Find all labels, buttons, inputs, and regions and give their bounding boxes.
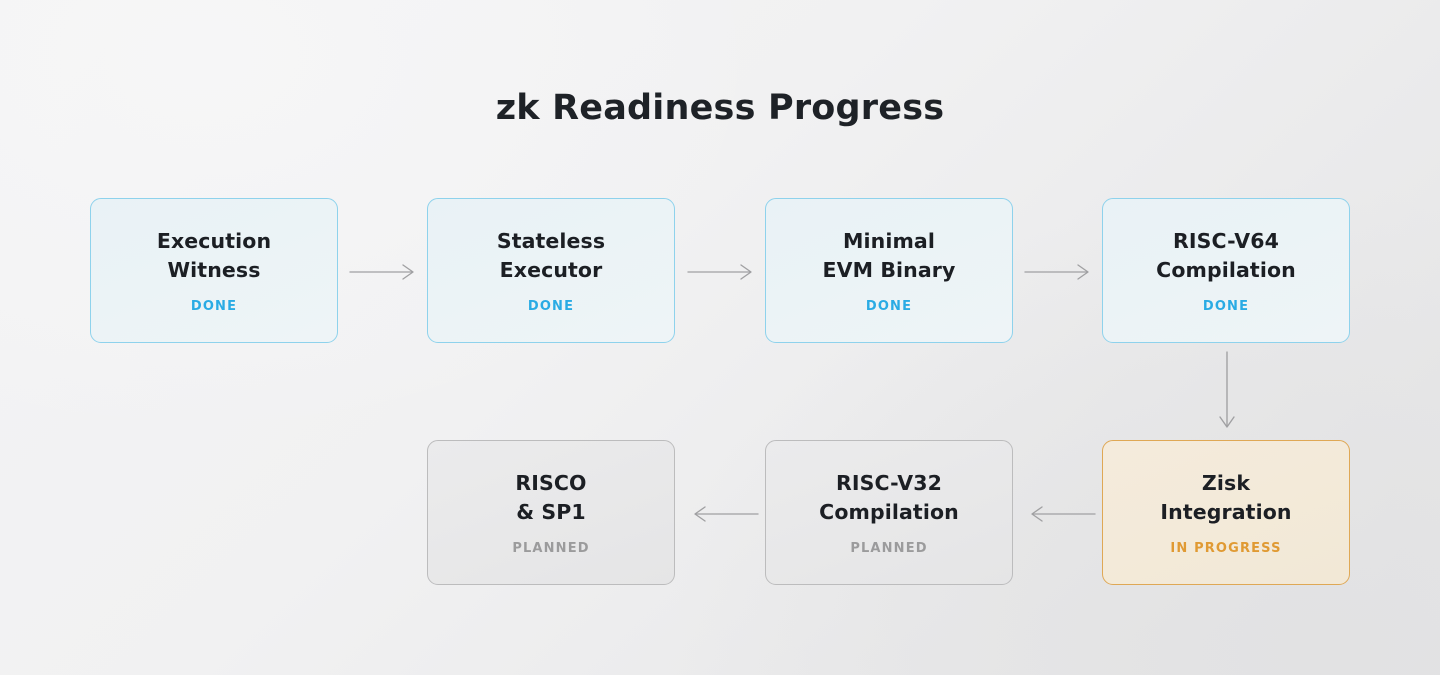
arrow-right-icon-3 bbox=[1025, 252, 1095, 292]
flow-card-risc-v64-compilation[interactable]: RISC-V64 Compilation DONE bbox=[1102, 198, 1350, 343]
flow-card-risco-sp1[interactable]: RISCO & SP1 PLANNED bbox=[427, 440, 675, 585]
arrow-right-icon-1 bbox=[350, 252, 420, 292]
arrow-down-icon bbox=[1198, 352, 1258, 434]
status-badge: PLANNED bbox=[512, 541, 589, 556]
status-badge: DONE bbox=[866, 299, 912, 314]
flow-card-stateless-executor[interactable]: Stateless Executor DONE bbox=[427, 198, 675, 343]
arrow-left-icon-1 bbox=[1025, 494, 1095, 534]
status-badge: PLANNED bbox=[850, 541, 927, 556]
flow-card-minimal-evm-binary[interactable]: Minimal EVM Binary DONE bbox=[765, 198, 1013, 343]
status-badge: DONE bbox=[1203, 299, 1249, 314]
card-title: Stateless Executor bbox=[497, 227, 605, 285]
arrow-right-icon-2 bbox=[688, 252, 758, 292]
card-title: RISC-V64 Compilation bbox=[1156, 227, 1296, 285]
flow-card-zisk-integration[interactable]: Zisk Integration IN PROGRESS bbox=[1102, 440, 1350, 585]
card-title: Zisk Integration bbox=[1160, 469, 1291, 527]
card-title: RISCO & SP1 bbox=[515, 469, 586, 527]
flow-card-execution-witness[interactable]: Execution Witness DONE bbox=[90, 198, 338, 343]
card-title: Execution Witness bbox=[157, 227, 271, 285]
page-title: zk Readiness Progress bbox=[0, 88, 1440, 128]
flow-card-risc-v32-compilation[interactable]: RISC-V32 Compilation PLANNED bbox=[765, 440, 1013, 585]
status-badge: DONE bbox=[191, 299, 237, 314]
status-badge: DONE bbox=[528, 299, 574, 314]
card-title: RISC-V32 Compilation bbox=[819, 469, 959, 527]
arrow-left-icon-2 bbox=[688, 494, 758, 534]
diagram-canvas: zk Readiness Progress Execution Witness … bbox=[0, 0, 1440, 675]
card-title: Minimal EVM Binary bbox=[823, 227, 956, 285]
status-badge: IN PROGRESS bbox=[1170, 541, 1281, 556]
